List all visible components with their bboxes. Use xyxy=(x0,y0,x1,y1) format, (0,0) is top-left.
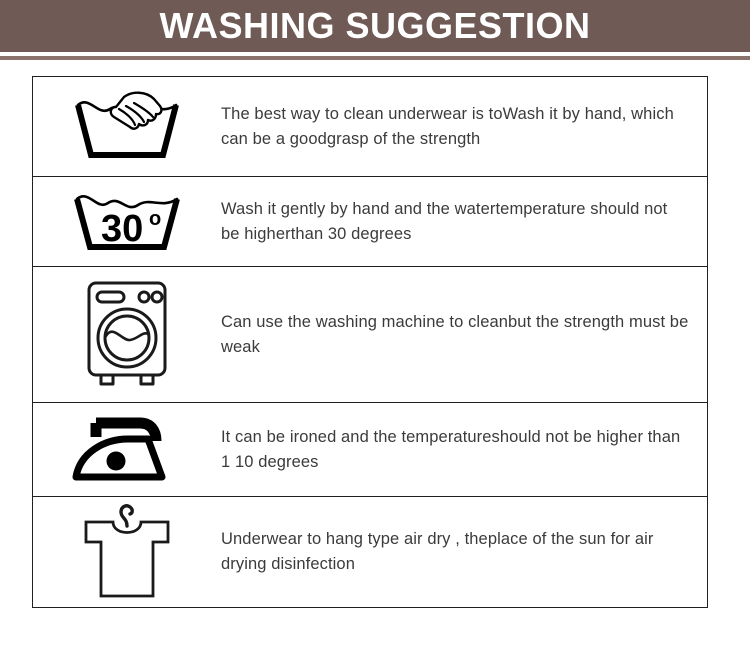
text-cell: Wash it gently by hand and the watertemp… xyxy=(221,197,707,247)
washing-instructions-table: The best way to clean underwear is toWas… xyxy=(32,76,708,608)
icon-cell xyxy=(33,403,221,496)
washing-suggestion-page: WASHING SUGGESTION The best w xyxy=(0,0,750,650)
hand-wash-icon xyxy=(64,89,190,165)
table-row: Underwear to hang type air dry , theplac… xyxy=(33,497,707,607)
instruction-text: Underwear to hang type air dry , theplac… xyxy=(221,527,689,577)
icon-cell: 30 o xyxy=(33,177,221,266)
instruction-text: It can be ironed and the temperatureshou… xyxy=(221,425,689,475)
iron-icon xyxy=(66,411,188,489)
table-row: 30 o Wash it gently by hand and the wate… xyxy=(33,177,707,267)
washing-machine-icon xyxy=(75,278,179,392)
instruction-text: Can use the washing machine to cleanbut … xyxy=(221,310,689,360)
table-row: It can be ironed and the temperatureshou… xyxy=(33,403,707,497)
text-cell: Can use the washing machine to cleanbut … xyxy=(221,310,707,360)
hang-dry-shirt-icon xyxy=(68,500,186,604)
page-title: WASHING SUGGESTION xyxy=(159,8,590,44)
degree-symbol: o xyxy=(149,208,161,230)
text-cell: The best way to clean underwear is toWas… xyxy=(221,102,707,152)
table-row: Can use the washing machine to cleanbut … xyxy=(33,267,707,403)
text-cell: Underwear to hang type air dry , theplac… xyxy=(221,527,707,577)
header-bar: WASHING SUGGESTION xyxy=(0,0,750,52)
icon-cell xyxy=(33,77,221,176)
table-row: The best way to clean underwear is toWas… xyxy=(33,77,707,177)
temperature-value: 30 xyxy=(101,208,143,250)
iron-dot xyxy=(107,451,126,470)
text-cell: It can be ironed and the temperatureshou… xyxy=(221,425,707,475)
wash-30-degrees-icon: 30 o xyxy=(65,187,189,257)
instruction-text: Wash it gently by hand and the watertemp… xyxy=(221,197,689,247)
icon-cell xyxy=(33,267,221,402)
instruction-text: The best way to clean underwear is toWas… xyxy=(221,102,689,152)
header-underline xyxy=(0,56,750,60)
icon-cell xyxy=(33,497,221,607)
